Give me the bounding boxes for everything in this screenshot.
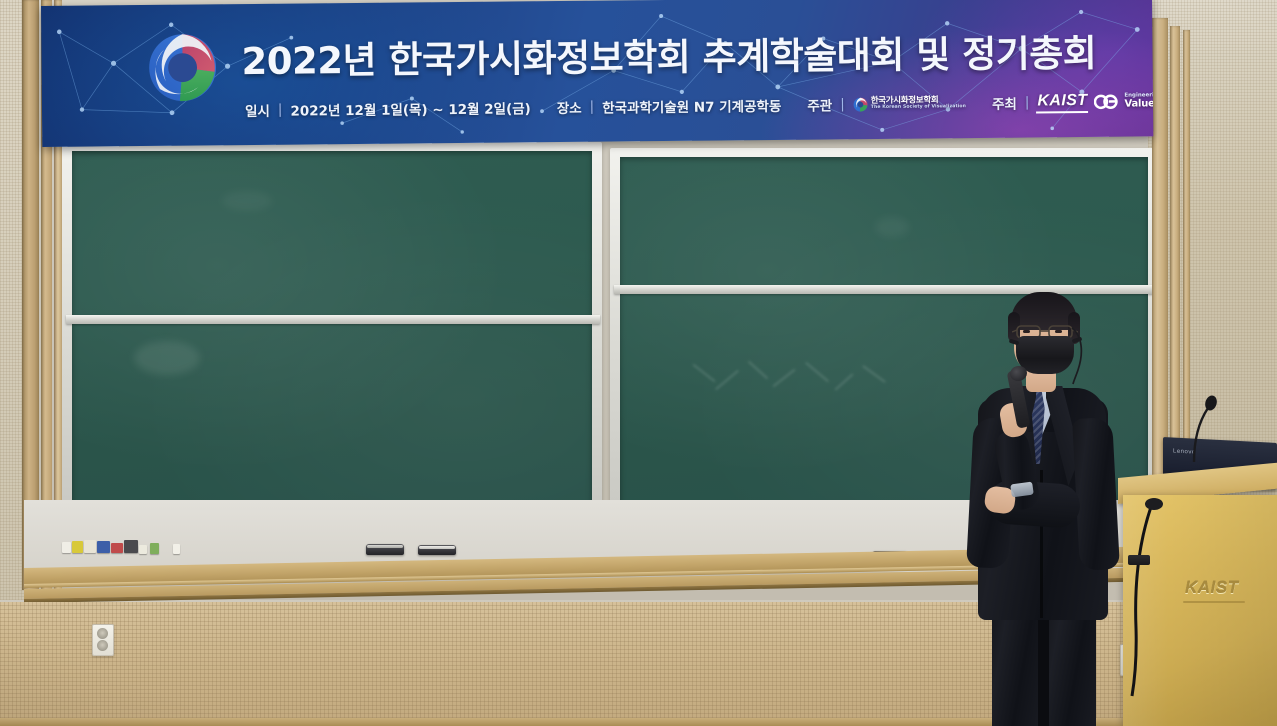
conference-photo: 2022년 한국가시화정보학회 추계학술대회 및 정기총회 일시 | 2022년… [0, 0, 1277, 726]
conference-banner: 2022년 한국가시화정보학회 추계학술대회 및 정기총회 일시 | 2022년… [41, 0, 1153, 147]
ksv-name-en: The Korean Society of Visualization [871, 105, 966, 111]
banner-venue-value: 한국과학기술원 N7 기계공학동 [602, 95, 781, 117]
eraser-1 [366, 544, 404, 555]
presenter-eye-left [1023, 330, 1030, 333]
chalk-box-green [150, 543, 159, 554]
separator-2: | [589, 99, 596, 115]
microphone-cable [1118, 498, 1178, 698]
banner-title: 2022년 한국가시화정보학회 추계학술대회 및 정기총회 [241, 23, 1096, 85]
chalk-piece [139, 545, 147, 554]
banner-organizer-label: 주최 [992, 93, 1017, 113]
left-wall-panel [0, 0, 24, 600]
chalk-box-red [111, 543, 123, 553]
banner-info-line: 일시 | 2022년 12월 1일(목) ~ 12월 2일(금) 장소 | 한국… [245, 91, 1153, 120]
evc-logo-group: Engineering for Value Creation [1094, 93, 1153, 110]
eraser-2 [418, 545, 456, 555]
chalk-box-dark [124, 540, 138, 553]
separator-4: | [1024, 95, 1031, 111]
banner-venue-label: 장소 [557, 97, 582, 117]
banner-date-value: 2022년 12월 1일(목) ~ 12월 2일(금) [290, 97, 531, 119]
stage-front-fabric [0, 602, 1152, 726]
separator-1: | [277, 102, 284, 118]
gooseneck-microphone [1186, 392, 1226, 462]
blackboard-left-divider [66, 315, 600, 324]
podium-kaist-engraving: KAIST [1185, 578, 1239, 598]
chalk-box-blue [97, 541, 110, 553]
evc-mark-icon [1094, 94, 1120, 110]
ksv-swirl-logo [144, 29, 221, 106]
ksv-mini-logo-group: 한국가시화정보학회 The Korean Society of Visualiz… [853, 96, 966, 112]
separator-3: | [839, 96, 846, 112]
presenter-eye-right [1055, 330, 1062, 333]
chalk-box-yellow [72, 541, 83, 553]
blackboard-right-divider [614, 285, 1156, 294]
headset-microphone-icon [1066, 326, 1092, 386]
ksv-swirl-icon [853, 97, 868, 112]
evc-line-2: Value Creation [1124, 98, 1153, 109]
banner-host-label: 주관 [807, 94, 832, 114]
presenter-arm-right [1072, 417, 1120, 571]
wall-mounted-speaker [1128, 555, 1150, 565]
stage-base-trim [0, 718, 1152, 726]
blackboard-left [72, 151, 592, 533]
kaist-logo-text: KAIST [1037, 92, 1087, 112]
banner-date-label: 일시 [245, 100, 270, 120]
chalk-box-white-2 [84, 540, 96, 553]
chalk-box-white [62, 542, 71, 553]
chalk-piece-2 [173, 544, 180, 554]
power-outlet-left[interactable] [92, 624, 114, 656]
